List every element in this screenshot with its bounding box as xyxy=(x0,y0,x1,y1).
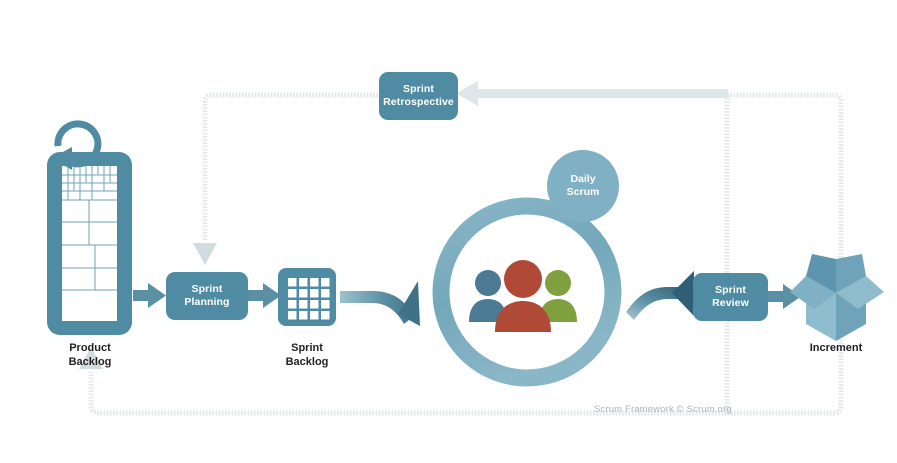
open-box-icon xyxy=(790,254,884,341)
increment-caption: Increment xyxy=(781,342,891,356)
sprint-planning-box[interactable]: SprintPlanning xyxy=(166,272,248,320)
arrowhead-to-planning xyxy=(193,243,217,265)
scrum-framework-diagram: 1 Scrum Team xyxy=(0,0,897,463)
sprint-retrospective-label: SprintRetrospective xyxy=(383,83,454,108)
arrow-into-sprint xyxy=(340,281,420,326)
diagram-canvas: 1 Scrum Team xyxy=(0,0,897,463)
scrum-org-credit: Scrum Framework © Scrum.org xyxy=(594,404,732,415)
arrow-backlog-to-planning xyxy=(133,283,166,308)
sprint-review-box[interactable]: SprintReview xyxy=(693,273,768,321)
sprint-backlog-icon xyxy=(278,268,336,326)
sprint-retrospective-box[interactable]: SprintRetrospective xyxy=(379,72,458,120)
daily-scrum-label: DailyScrum xyxy=(567,173,600,198)
product-backlog-icon xyxy=(47,152,132,335)
daily-scrum-circle[interactable]: DailyScrum xyxy=(547,150,619,222)
arrow-sprint-to-review xyxy=(626,271,694,320)
product-backlog-caption: Product Backlog xyxy=(35,342,145,370)
retro-to-planning-path xyxy=(205,95,378,240)
sprint-review-label: SprintReview xyxy=(712,284,749,309)
sprint-backlog-caption: Sprint Backlog xyxy=(252,342,362,370)
arrow-planning-to-sprint-backlog xyxy=(248,283,281,308)
sprint-planning-label: SprintPlanning xyxy=(184,283,229,308)
top-solid-arrow xyxy=(456,81,728,106)
